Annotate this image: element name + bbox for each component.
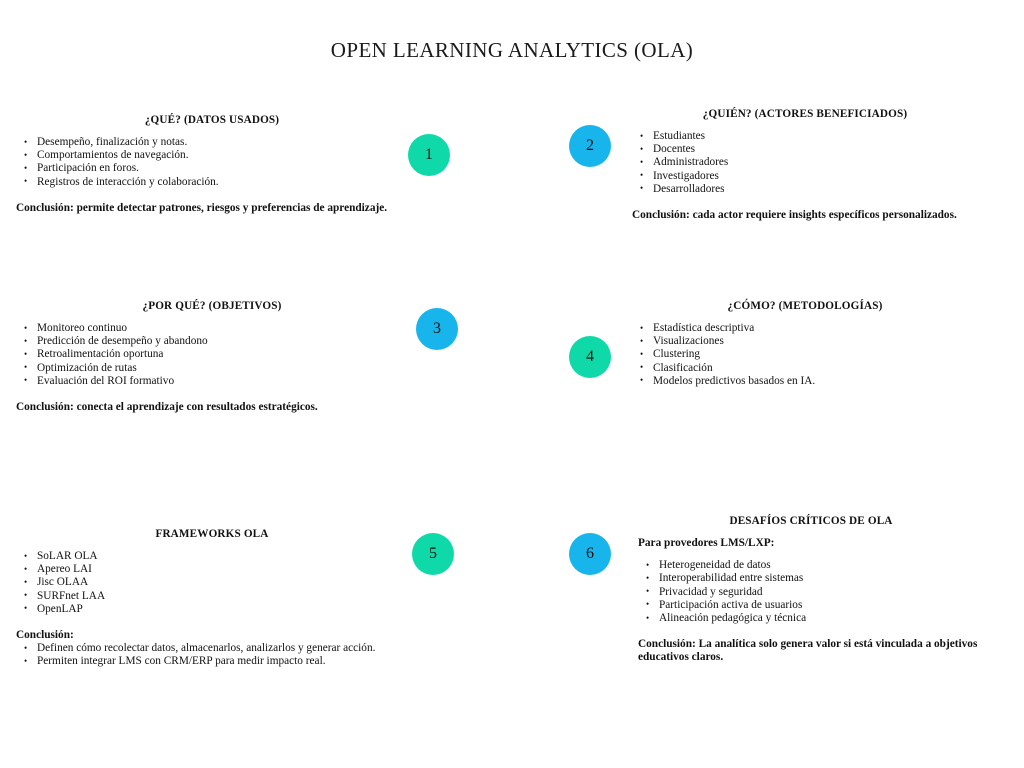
section-conclusion: Conclusión: La analítica solo genera val… — [638, 638, 984, 664]
list-item: Administradores — [632, 156, 978, 169]
section-conclusion: Conclusión: conecta el aprendizaje con r… — [16, 401, 408, 414]
section-panel-quien: ¿QUIÉN? (ACTORES BENEFICIADOS) Estudiant… — [632, 108, 978, 222]
section-conclusion: Conclusión: permite detectar patrones, r… — [16, 202, 408, 215]
list-item: Desarrolladores — [632, 183, 978, 196]
step-badge-6: 6 — [569, 533, 611, 575]
list-item: Visualizaciones — [632, 335, 978, 348]
section-bullet-list: Estudiantes Docentes Administradores Inv… — [632, 130, 978, 196]
step-badge-4: 4 — [569, 336, 611, 378]
list-item: Participación activa de usuarios — [638, 599, 984, 612]
list-item: Registros de interacción y colaboración. — [16, 176, 408, 189]
list-item: Apereo LAI — [16, 563, 408, 576]
list-item: Desempeño, finalización y notas. — [16, 136, 408, 149]
list-item: SURFnet LAA — [16, 590, 408, 603]
section-heading: ¿QUÉ? (DATOS USADOS) — [16, 114, 408, 127]
section-heading: ¿POR QUÉ? (OBJETIVOS) — [16, 300, 408, 313]
list-item: Definen cómo recolectar datos, almacenar… — [16, 642, 408, 655]
list-item: Permiten integrar LMS con CRM/ERP para m… — [16, 655, 408, 668]
step-badge-1: 1 — [408, 134, 450, 176]
step-badge-5: 5 — [412, 533, 454, 575]
section-bullet-list: Desempeño, finalización y notas. Comport… — [16, 136, 408, 189]
section-bullet-list: Estadística descriptiva Visualizaciones … — [632, 322, 978, 388]
section-sub-label: Para provedores LMS/LXP: — [638, 537, 984, 550]
section-conclusion: Conclusión: cada actor requiere insights… — [632, 209, 978, 222]
list-item: Interoperabilidad entre sistemas — [638, 572, 984, 585]
section-heading: ¿QUIÉN? (ACTORES BENEFICIADOS) — [632, 108, 978, 121]
list-item: Comportamientos de navegación. — [16, 149, 408, 162]
list-item: Evaluación del ROI formativo — [16, 375, 408, 388]
list-item: Participación en foros. — [16, 162, 408, 175]
list-item: Optimización de rutas — [16, 362, 408, 375]
list-item: Estudiantes — [632, 130, 978, 143]
section-panel-porque: ¿POR QUÉ? (OBJETIVOS) Monitoreo continuo… — [16, 300, 408, 414]
list-item: Retroalimentación oportuna — [16, 348, 408, 361]
section-conclusion-label: Conclusión: — [16, 629, 408, 642]
section-panel-frameworks: FRAMEWORKS OLA SoLAR OLA Apereo LAI Jisc… — [16, 528, 408, 669]
section-panel-como: ¿CÓMO? (METODOLOGÍAS) Estadística descri… — [632, 300, 978, 388]
list-item: Modelos predictivos basados en IA. — [632, 375, 978, 388]
page-title: OPEN LEARNING ANALYTICS (OLA) — [0, 38, 1024, 63]
section-panel-desafios: DESAFÍOS CRÍTICOS DE OLA Para provedores… — [638, 515, 984, 665]
list-item: Clustering — [632, 348, 978, 361]
list-item: Docentes — [632, 143, 978, 156]
section-bullet-list: Monitoreo continuo Predicción de desempe… — [16, 322, 408, 388]
list-item: Alineación pedagógica y técnica — [638, 612, 984, 625]
list-item: Heterogeneidad de datos — [638, 559, 984, 572]
step-badge-2: 2 — [569, 125, 611, 167]
list-item: Investigadores — [632, 170, 978, 183]
section-bullet-list: Heterogeneidad de datos Interoperabilida… — [638, 559, 984, 625]
list-item: OpenLAP — [16, 603, 408, 616]
list-item: Estadística descriptiva — [632, 322, 978, 335]
step-badge-3: 3 — [416, 308, 458, 350]
section-heading: DESAFÍOS CRÍTICOS DE OLA — [638, 515, 984, 528]
list-item: Clasificación — [632, 362, 978, 375]
list-item: SoLAR OLA — [16, 550, 408, 563]
section-panel-que: ¿QUÉ? (DATOS USADOS) Desempeño, finaliza… — [16, 114, 408, 215]
section-heading: ¿CÓMO? (METODOLOGÍAS) — [632, 300, 978, 313]
list-item: Predicción de desempeño y abandono — [16, 335, 408, 348]
list-item: Monitoreo continuo — [16, 322, 408, 335]
section-conclusion-list: Definen cómo recolectar datos, almacenar… — [16, 642, 408, 668]
list-item: Privacidad y seguridad — [638, 586, 984, 599]
section-heading: FRAMEWORKS OLA — [16, 528, 408, 541]
section-bullet-list: SoLAR OLA Apereo LAI Jisc OLAA SURFnet L… — [16, 550, 408, 616]
list-item: Jisc OLAA — [16, 576, 408, 589]
